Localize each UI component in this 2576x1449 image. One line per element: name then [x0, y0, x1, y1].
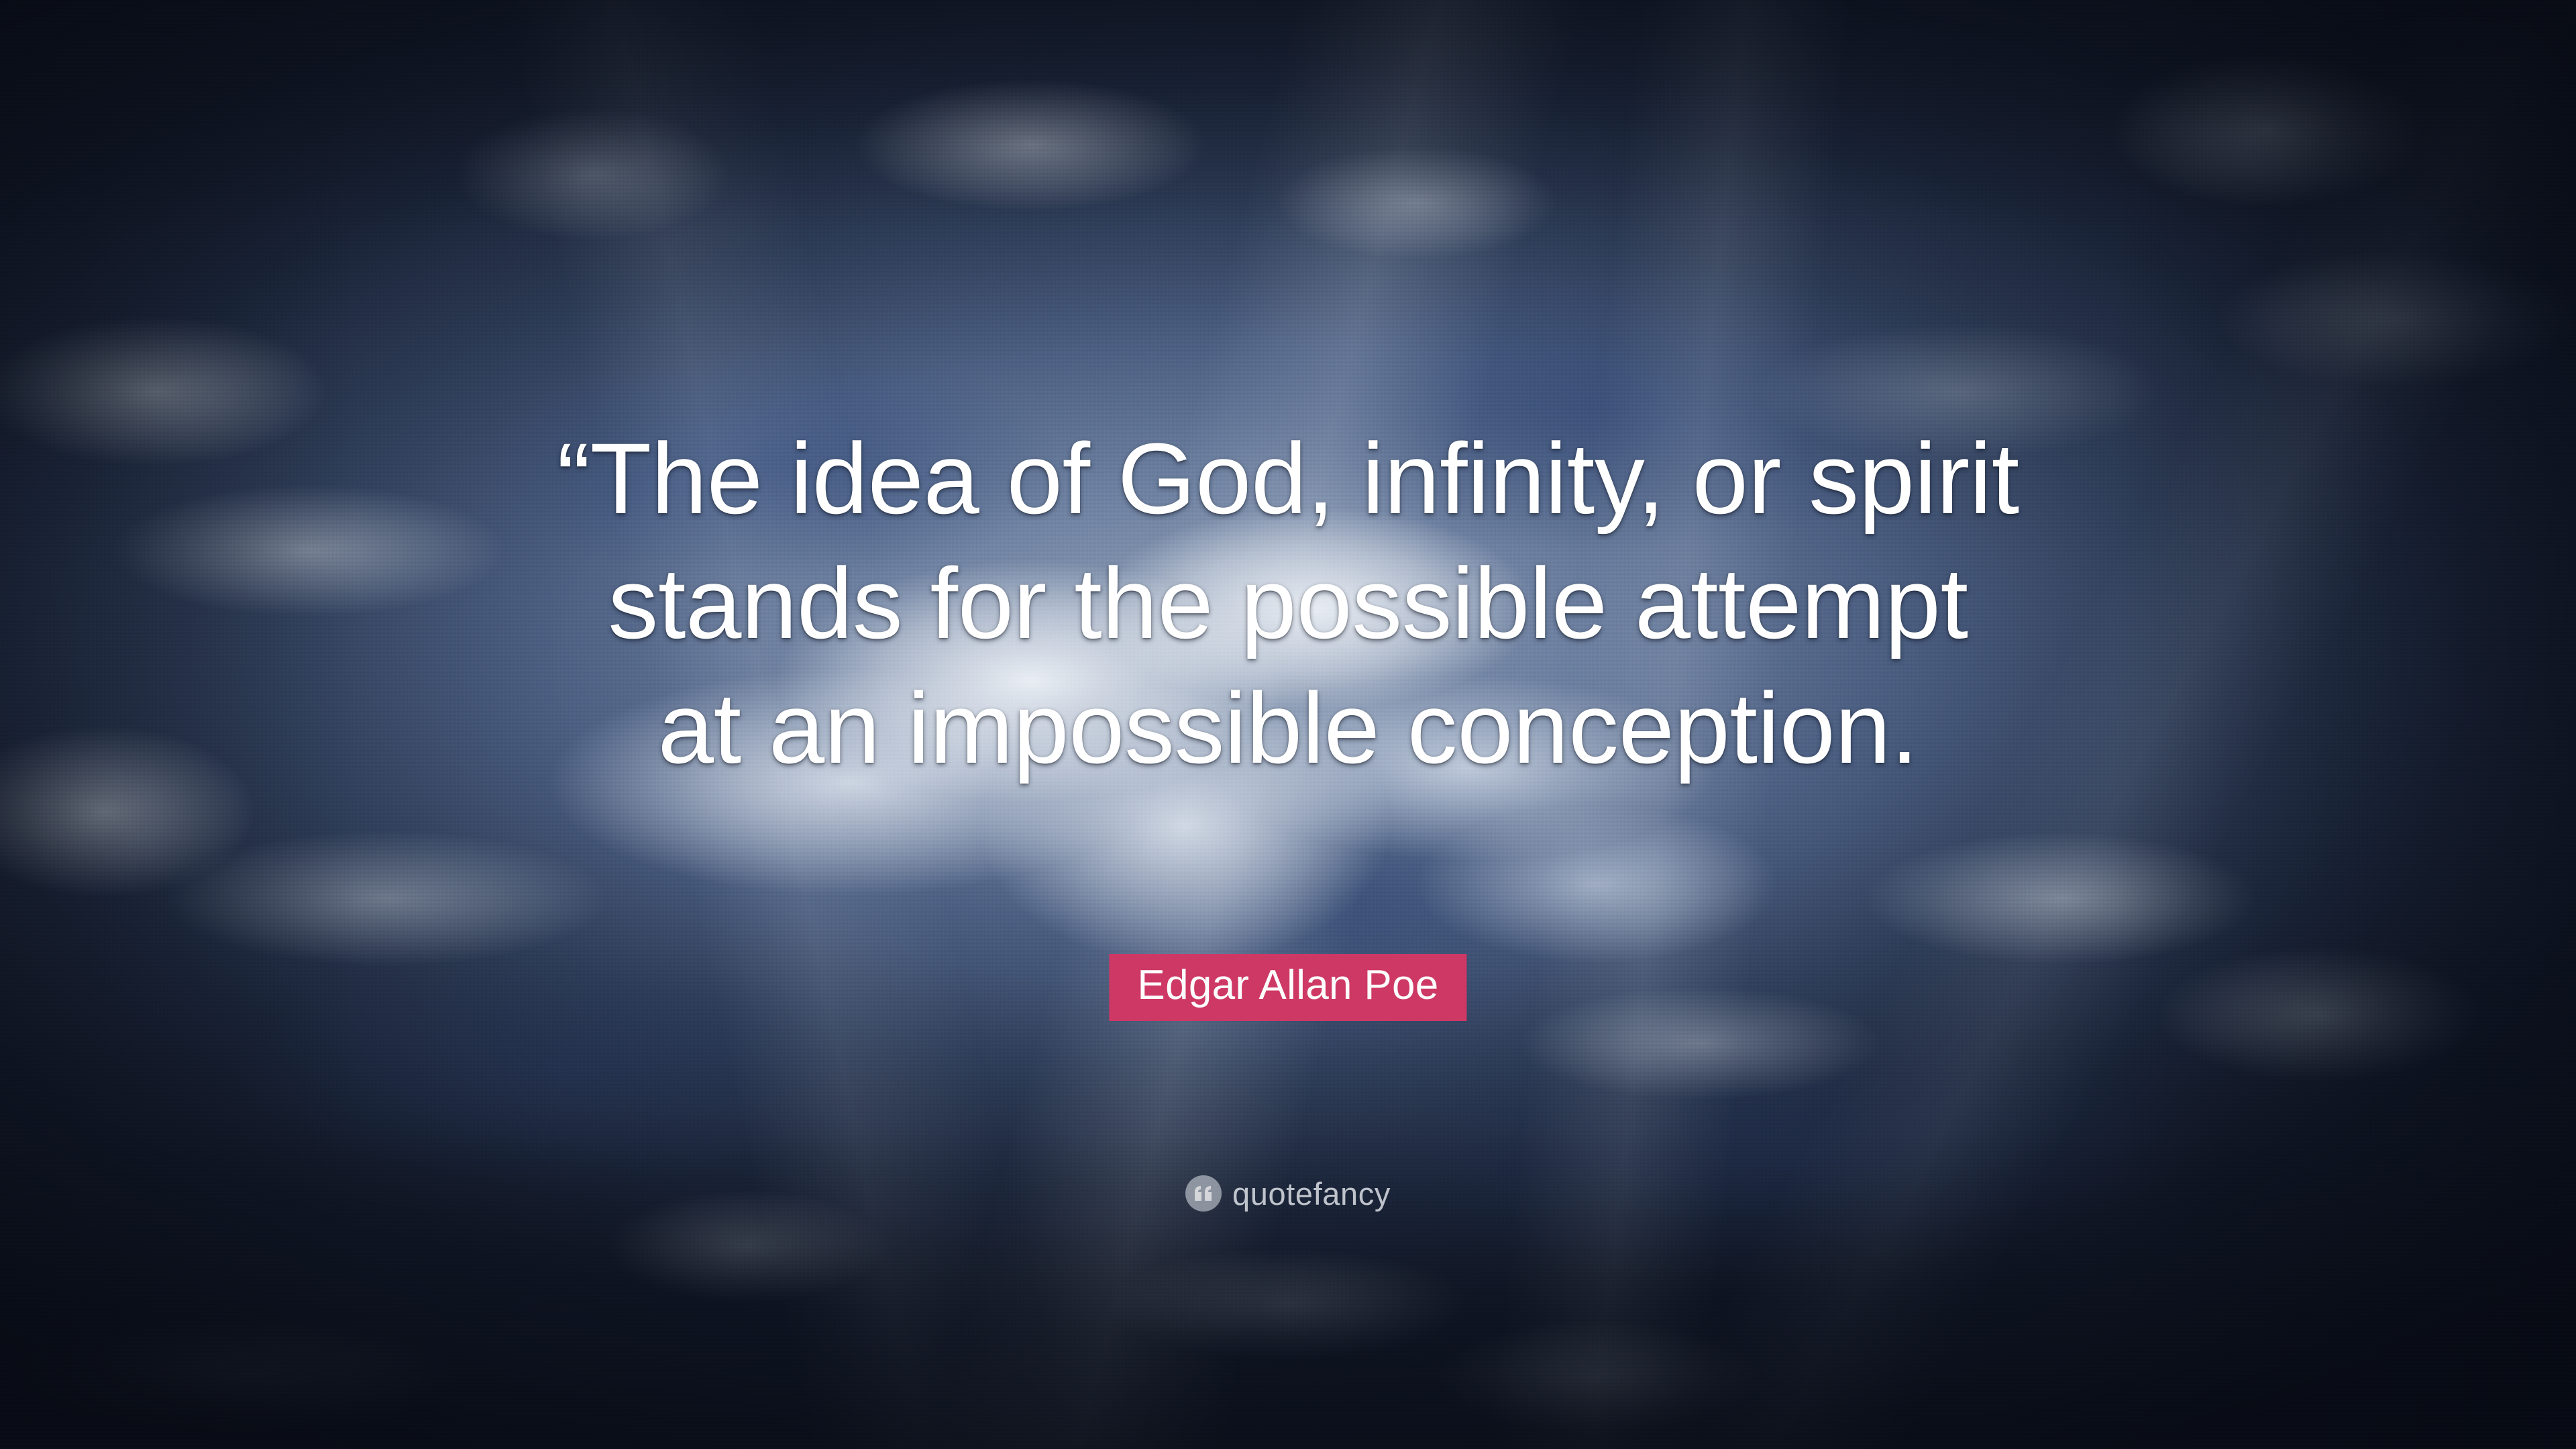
author-name: Edgar Allan Poe	[1137, 962, 1438, 1008]
quotefancy-watermark[interactable]: quotefancy	[1185, 1175, 1391, 1212]
quote-wallpaper: “The idea of God, infinity, or spirit st…	[0, 0, 2576, 1449]
quotefancy-wordmark: quotefancy	[1232, 1178, 1391, 1210]
quote-line-2: stands for the possible attempt	[382, 541, 2194, 665]
author-badge[interactable]: Edgar Allan Poe	[1109, 954, 1466, 1021]
content-overlay: “The idea of God, infinity, or spirit st…	[0, 0, 2576, 1449]
quote-line-1: “The idea of God, infinity, or spirit	[382, 416, 2194, 541]
quote-mark-icon	[1185, 1175, 1222, 1212]
quote-line-3: at an impossible conception.	[382, 665, 2194, 790]
quote-text: “The idea of God, infinity, or spirit st…	[382, 416, 2194, 790]
